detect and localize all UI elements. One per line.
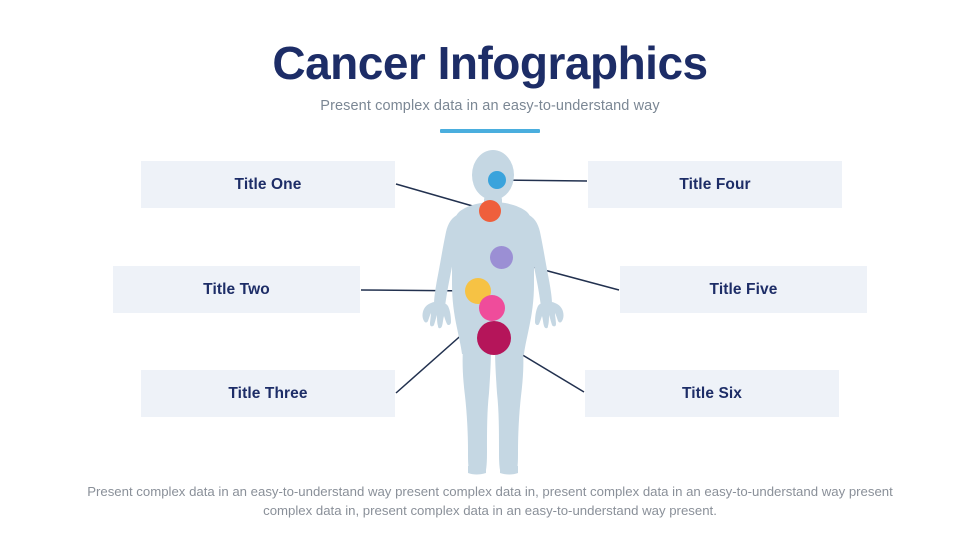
- hotspot-pink[interactable]: [479, 295, 505, 321]
- label-text-title-one: Title One: [235, 176, 302, 194]
- label-text-title-three: Title Three: [228, 385, 307, 403]
- page-subtitle: Present complex data in an easy-to-under…: [0, 98, 980, 114]
- label-box-title-two[interactable]: Title Two: [113, 266, 360, 313]
- infographic-slide: Cancer Infographics Present complex data…: [0, 0, 980, 551]
- hotspot-purple[interactable]: [490, 246, 513, 269]
- label-box-title-three[interactable]: Title Three: [141, 370, 395, 417]
- hotspot-blue[interactable]: [488, 171, 506, 189]
- label-text-title-six: Title Six: [682, 385, 742, 403]
- label-text-title-two: Title Two: [203, 281, 270, 299]
- title-underline-accent: [440, 129, 540, 133]
- hotspot-magenta[interactable]: [477, 321, 511, 355]
- label-box-title-one[interactable]: Title One: [141, 161, 395, 208]
- hotspot-orange[interactable]: [479, 200, 501, 222]
- label-box-title-six[interactable]: Title Six: [585, 370, 839, 417]
- label-text-title-five: Title Five: [710, 281, 778, 299]
- page-title: Cancer Infographics: [0, 38, 980, 89]
- footer-description: Present complex data in an easy-to-under…: [75, 482, 905, 520]
- label-box-title-four[interactable]: Title Four: [588, 161, 842, 208]
- label-text-title-four: Title Four: [679, 176, 750, 194]
- label-box-title-five[interactable]: Title Five: [620, 266, 867, 313]
